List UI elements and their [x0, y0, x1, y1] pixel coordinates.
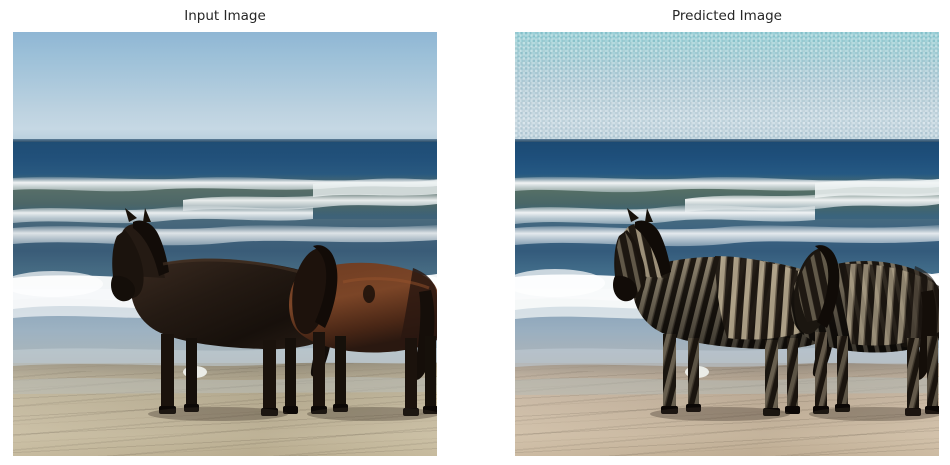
panel-predicted-image: Predicted Image [515, 4, 939, 456]
input-scene-detail [13, 32, 437, 456]
panel-predicted-title: Predicted Image [515, 10, 939, 24]
ocean-foam-crests [13, 177, 437, 245]
input-image-axes[interactable] [13, 32, 437, 456]
predicted-scene-detail [515, 32, 939, 456]
ocean-foam-crests [515, 177, 939, 246]
figure-canvas: Input Image [0, 0, 950, 465]
waterline [13, 377, 437, 394]
predicted-image-scene [515, 32, 939, 456]
predicted-image-axes[interactable] [515, 32, 939, 456]
panel-input-title: Input Image [13, 10, 437, 24]
waterline [515, 377, 939, 395]
input-image-scene [13, 32, 437, 456]
panel-input-image: Input Image [13, 4, 437, 456]
